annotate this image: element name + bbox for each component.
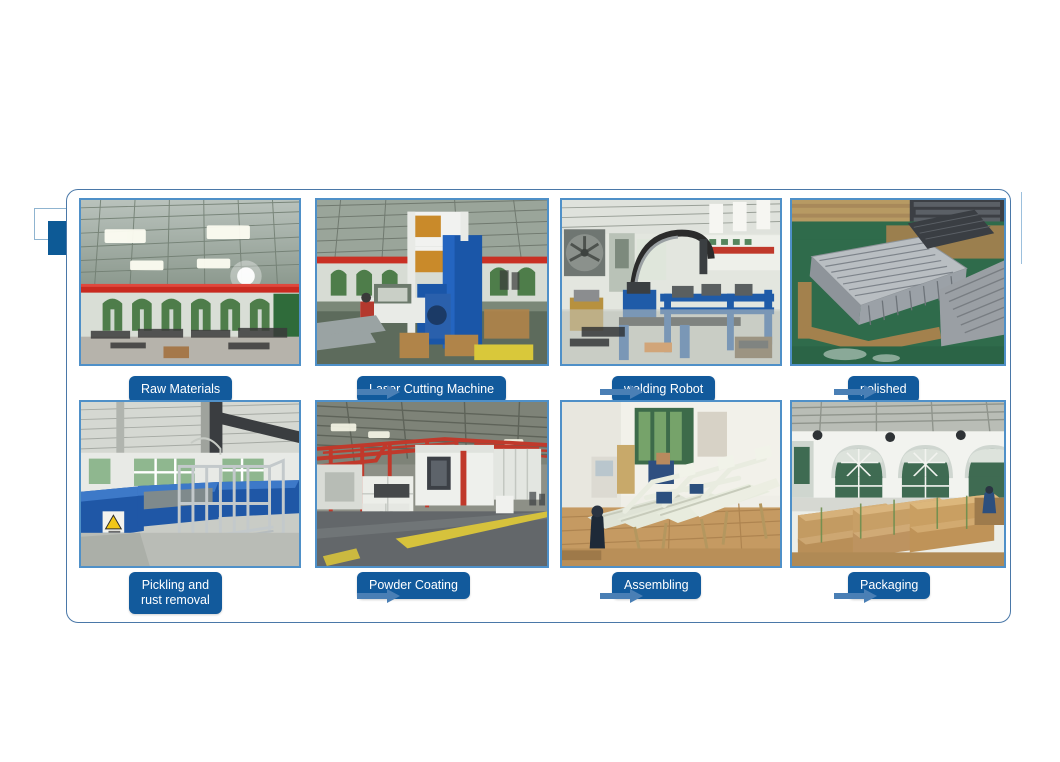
arrow-right-icon	[834, 384, 878, 400]
photo-packaging-warehouse	[790, 400, 1006, 568]
workflow-step-powder-coating[interactable]: Powder Coating	[315, 400, 537, 605]
photo-laser-cutting-machine	[315, 198, 549, 366]
arrow-right-icon	[357, 384, 401, 400]
slide-header: Production Workflow Chart TOP OST	[0, 96, 1060, 170]
photo-powder-coating-line	[315, 400, 549, 568]
workflow-step-raw-materials[interactable]: Raw Materials	[79, 198, 301, 403]
step-label: Raw Materials	[129, 376, 232, 403]
arrow-right-icon	[834, 588, 878, 604]
workflow-step-laser-cutting-machine[interactable]: Laser Cutting Machine	[315, 198, 537, 403]
workflow-step-polished[interactable]: polished	[790, 198, 1012, 403]
photo-welding-robot	[560, 198, 782, 366]
workflow-row-2: Pickling and rust removal	[67, 400, 1012, 605]
workflow-container: Raw Materials	[66, 189, 1011, 623]
workflow-step-assembling[interactable]: Assembling	[560, 400, 782, 605]
photo-factory-workshop-interior	[79, 198, 301, 366]
arrow-right-icon	[357, 588, 401, 604]
workflow-step-packaging[interactable]: Packaging	[790, 400, 1012, 605]
brand-divider-rule	[1021, 192, 1023, 264]
slide-canvas: Production Workflow Chart TOP OST	[0, 0, 1060, 762]
arrow-right-icon	[600, 588, 644, 604]
photo-pickling-tanks	[79, 400, 301, 568]
workflow-step-pickling-and-rust-removal[interactable]: Pickling and rust removal	[79, 400, 301, 605]
photo-polished-metal-parts	[790, 198, 1006, 366]
step-label: Pickling and rust removal	[129, 572, 222, 614]
arrow-right-icon	[600, 384, 644, 400]
photo-assembly-workshop	[560, 400, 782, 568]
workflow-row-1: Raw Materials	[67, 198, 1012, 403]
workflow-step-welding-robot[interactable]: welding Robot	[560, 198, 782, 403]
